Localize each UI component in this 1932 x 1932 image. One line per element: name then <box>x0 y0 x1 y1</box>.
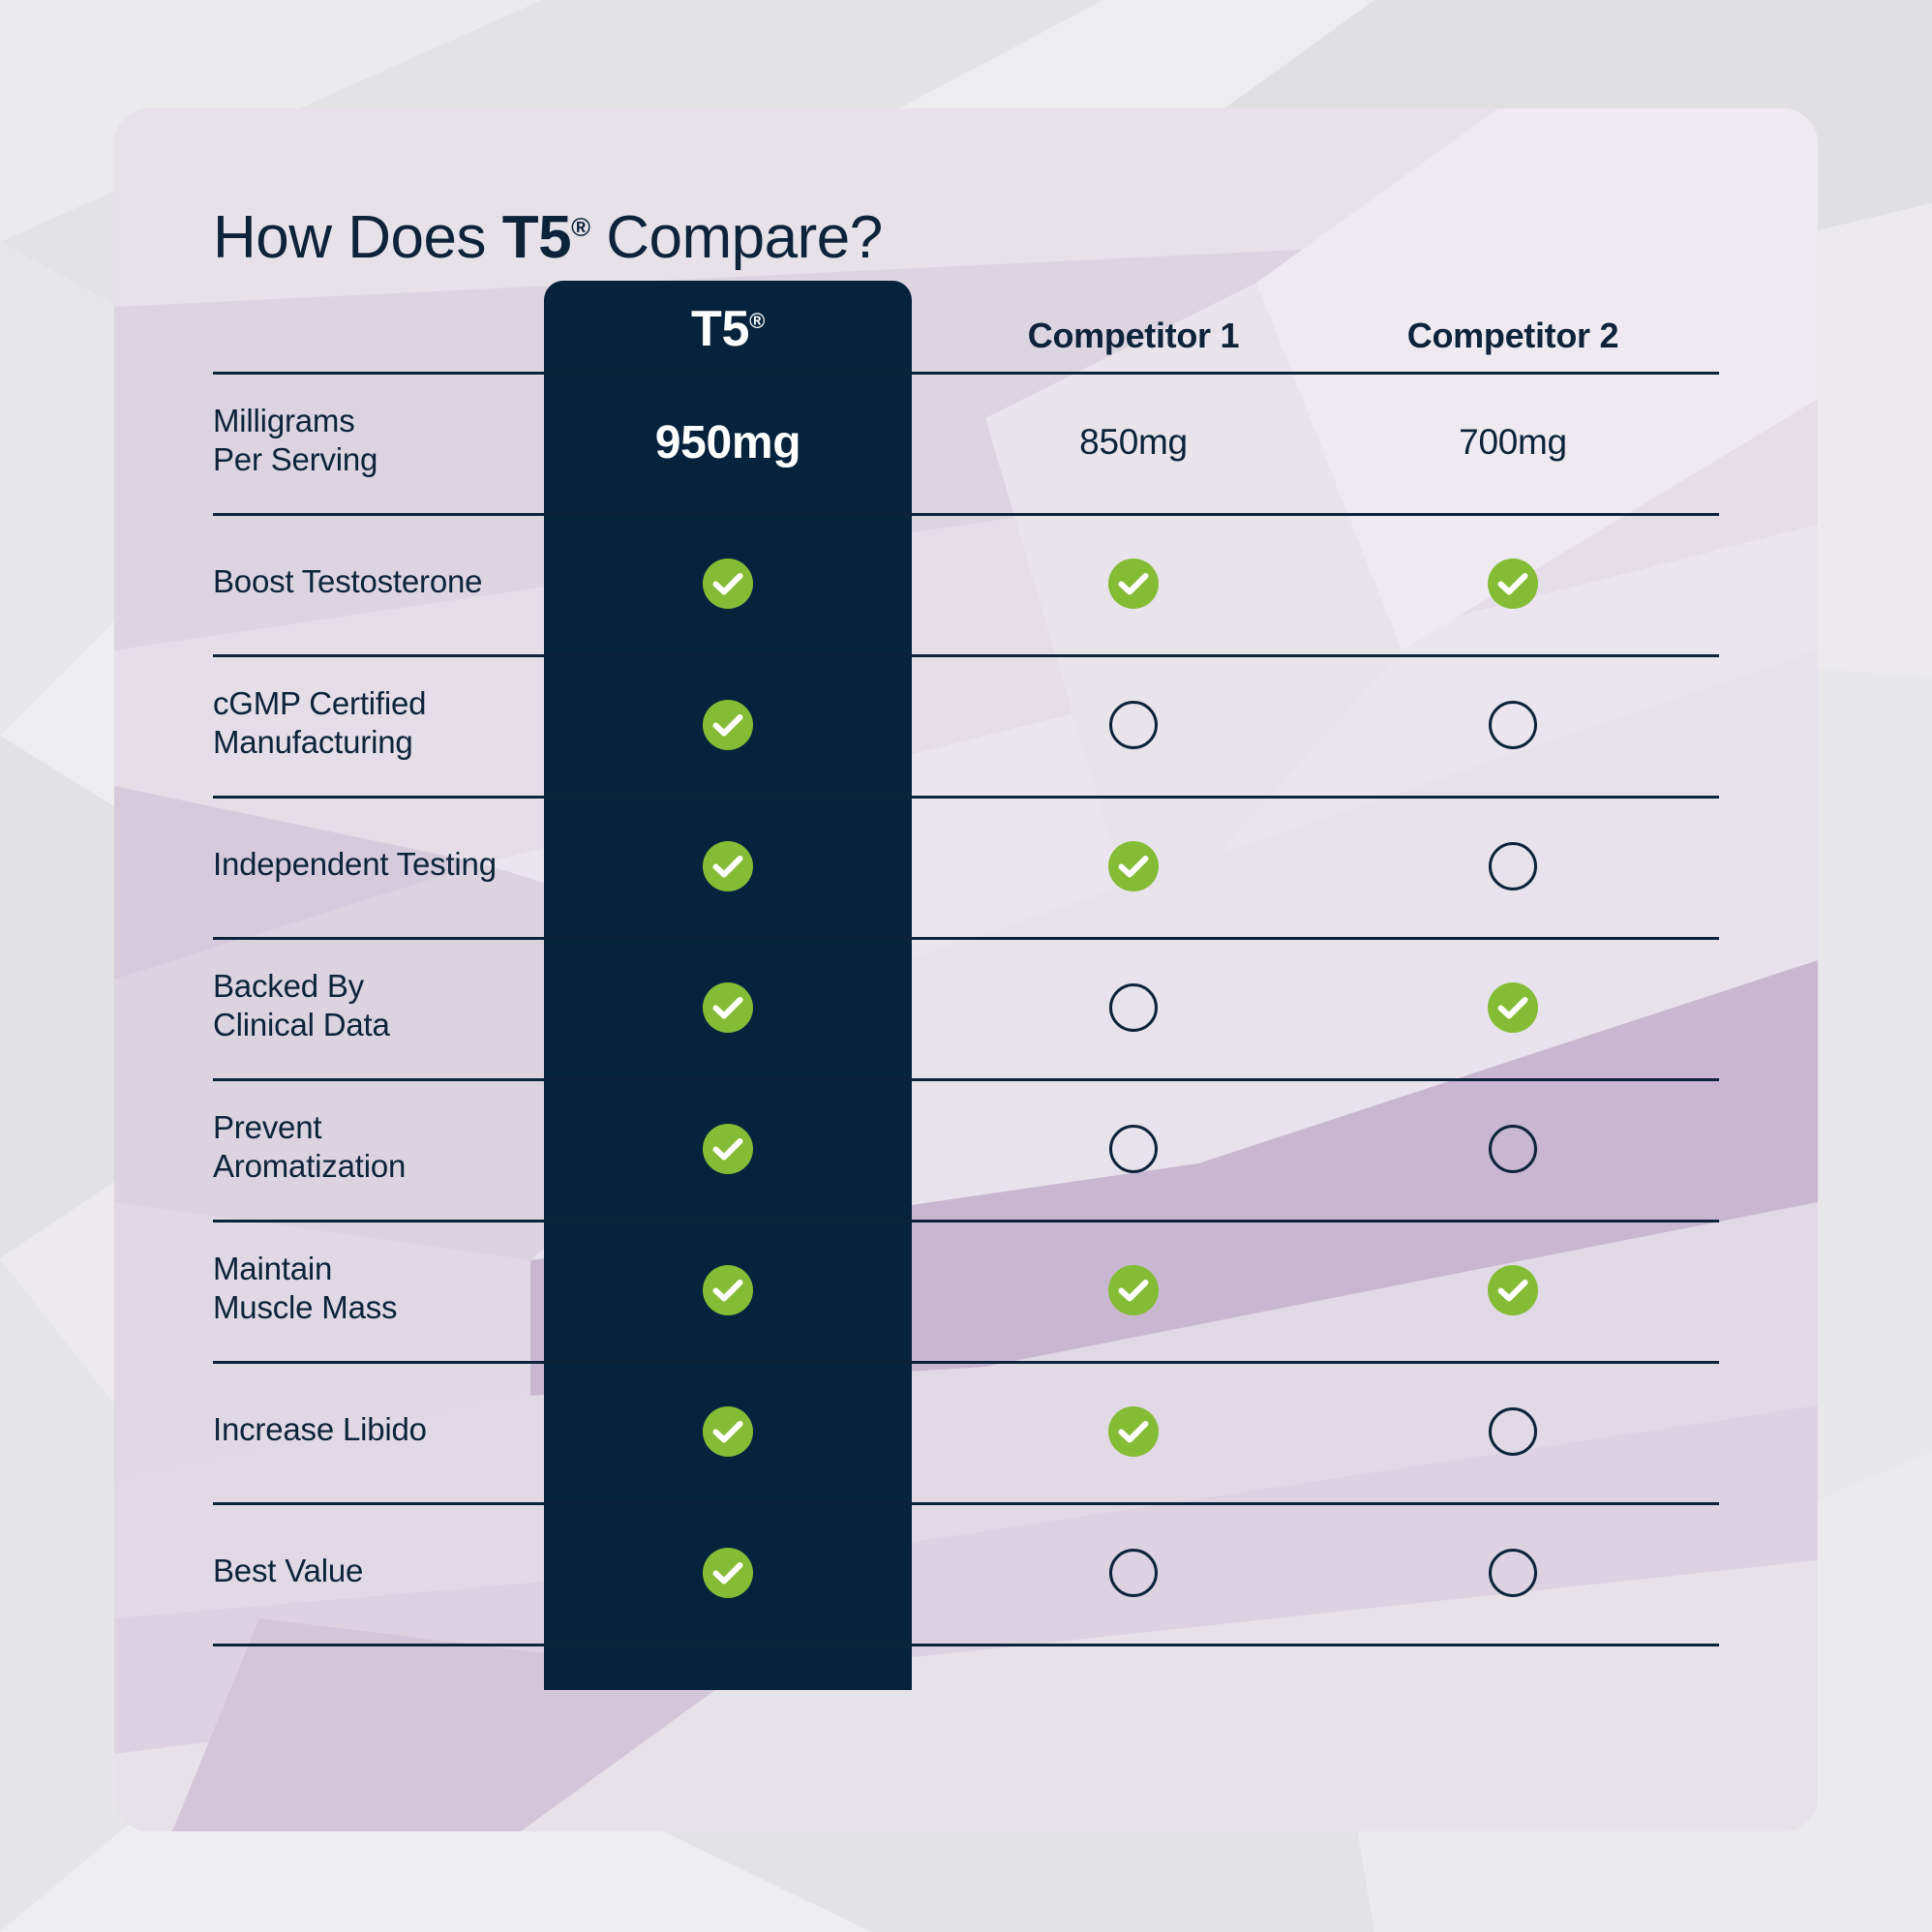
row-label-0: MilligramsPer Serving <box>213 402 532 480</box>
cell-competitor1-2 <box>974 654 1293 796</box>
check-circle-icon <box>1108 841 1159 891</box>
cell-t5-8 <box>544 1502 912 1644</box>
row-label-2: cGMP CertifiedManufacturing <box>213 684 532 763</box>
cell-competitor1-6 <box>974 1220 1293 1361</box>
row-label-8: Best Value <box>213 1552 532 1590</box>
row-label-1: Boost Testosterone <box>213 562 532 601</box>
check-circle-icon <box>1108 1265 1159 1315</box>
check-circle-icon <box>703 558 753 609</box>
check-circle-icon <box>703 1265 753 1315</box>
row-label-line: Per Serving <box>213 440 532 479</box>
row-label-line: Prevent <box>213 1108 532 1147</box>
row-label-line: Manufacturing <box>213 723 532 762</box>
cell-competitor2-2 <box>1353 654 1673 796</box>
cell-value: 700mg <box>1459 422 1567 463</box>
row-label-6: MaintainMuscle Mass <box>213 1250 532 1328</box>
row-label-5: PreventAromatization <box>213 1108 532 1187</box>
row-divider-8 <box>213 1644 1719 1646</box>
row-label-7: Increase Libido <box>213 1410 532 1449</box>
empty-circle-icon <box>1109 1549 1158 1597</box>
cell-t5-3 <box>544 796 912 937</box>
row-label-line: Independent Testing <box>213 845 532 884</box>
cell-t5-2 <box>544 654 912 796</box>
check-circle-icon <box>703 841 753 891</box>
cell-competitor2-6 <box>1353 1220 1673 1361</box>
check-circle-icon <box>703 1406 753 1457</box>
cell-competitor2-4 <box>1353 937 1673 1078</box>
empty-circle-icon <box>1109 701 1158 749</box>
cell-t5-4 <box>544 937 912 1078</box>
empty-circle-icon <box>1489 842 1537 891</box>
column-header-label: Competitor 2 <box>1407 316 1618 355</box>
cell-competitor2-5 <box>1353 1078 1673 1220</box>
check-circle-icon <box>703 700 753 750</box>
empty-circle-icon <box>1489 1549 1537 1597</box>
cell-competitor2-0: 700mg <box>1353 372 1673 513</box>
empty-circle-icon <box>1109 1125 1158 1173</box>
comparison-table: T5®Competitor 1Competitor 2MilligramsPer… <box>114 108 1818 1831</box>
cell-competitor2-7 <box>1353 1361 1673 1502</box>
column-header-t5: T5® <box>544 300 912 358</box>
row-label-line: Clinical Data <box>213 1006 532 1044</box>
check-circle-icon <box>703 1548 753 1598</box>
row-label-line: Muscle Mass <box>213 1288 532 1327</box>
cell-competitor1-1 <box>974 513 1293 654</box>
check-circle-icon <box>1488 1265 1538 1315</box>
registered-trademark-icon: ® <box>749 309 765 333</box>
cell-t5-0: 950mg <box>544 372 912 513</box>
cell-competitor2-8 <box>1353 1502 1673 1644</box>
comparison-card: How Does T5® Compare? T5®Competitor 1Com… <box>114 108 1818 1831</box>
check-circle-icon <box>1108 558 1159 609</box>
row-label-line: Maintain <box>213 1250 532 1288</box>
empty-circle-icon <box>1489 1125 1537 1173</box>
row-label-line: Backed By <box>213 967 532 1006</box>
row-label-line: Best Value <box>213 1552 532 1590</box>
cell-competitor1-4 <box>974 937 1293 1078</box>
row-label-line: Increase Libido <box>213 1410 532 1449</box>
row-label-3: Independent Testing <box>213 845 532 884</box>
cell-value: 850mg <box>1079 422 1188 463</box>
column-header-competitor2: Competitor 2 <box>1353 316 1673 356</box>
cell-competitor1-0: 850mg <box>974 372 1293 513</box>
cell-t5-1 <box>544 513 912 654</box>
check-circle-icon <box>1488 982 1538 1033</box>
empty-circle-icon <box>1489 701 1537 749</box>
cell-t5-7 <box>544 1361 912 1502</box>
cell-t5-6 <box>544 1220 912 1361</box>
check-circle-icon <box>703 982 753 1033</box>
row-label-line: Aromatization <box>213 1147 532 1186</box>
empty-circle-icon <box>1109 983 1158 1032</box>
check-circle-icon <box>703 1124 753 1174</box>
cell-competitor1-7 <box>974 1361 1293 1502</box>
cell-competitor1-8 <box>974 1502 1293 1644</box>
check-circle-icon <box>1488 558 1538 609</box>
row-label-4: Backed ByClinical Data <box>213 967 532 1045</box>
row-label-line: Boost Testosterone <box>213 562 532 601</box>
cell-competitor2-1 <box>1353 513 1673 654</box>
column-header-label: Competitor 1 <box>1028 316 1239 355</box>
column-header-competitor1: Competitor 1 <box>974 316 1293 356</box>
empty-circle-icon <box>1489 1407 1537 1456</box>
row-label-line: cGMP Certified <box>213 684 532 723</box>
row-label-line: Milligrams <box>213 402 532 440</box>
cell-competitor1-5 <box>974 1078 1293 1220</box>
cell-competitor2-3 <box>1353 796 1673 937</box>
cell-competitor1-3 <box>974 796 1293 937</box>
cell-value: 950mg <box>655 416 801 469</box>
cell-t5-5 <box>544 1078 912 1220</box>
check-circle-icon <box>1108 1406 1159 1457</box>
column-header-label: T5 <box>691 301 749 357</box>
